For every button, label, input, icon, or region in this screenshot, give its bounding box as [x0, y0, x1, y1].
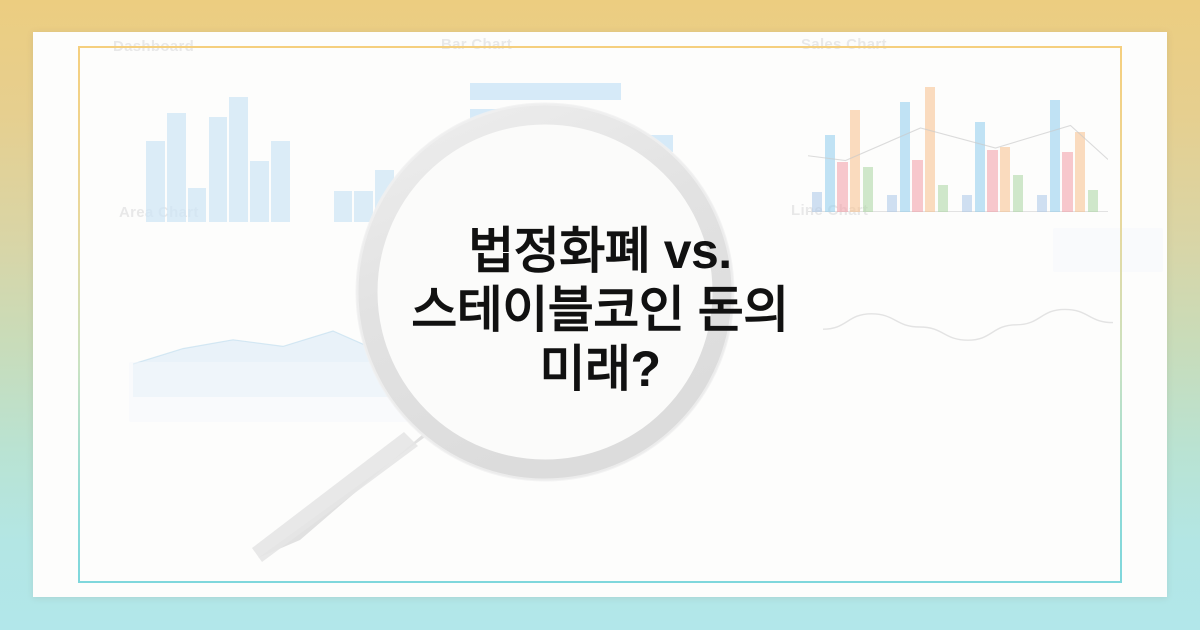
chart-bar: [167, 113, 186, 222]
page-title: 법정화폐 vs. 스테이블코인 돈의 미래?: [280, 222, 920, 399]
panel-label-bar-chart: Bar Chart: [441, 36, 512, 53]
ghost-panel-right: [1053, 228, 1163, 272]
page-title-line-3: 미래?: [280, 340, 920, 399]
page-title-line-2: 스테이블코인 돈의: [280, 281, 920, 340]
chart-bar: [470, 83, 621, 100]
page-title-line-1: 법정화폐 vs.: [280, 222, 920, 281]
chart-sales-overlay-line: [808, 87, 1108, 212]
chart-bar: [146, 141, 165, 222]
chart-bar: [229, 97, 248, 222]
chart-bar: [334, 191, 353, 222]
panel-label-dashboard: Dashboard: [113, 38, 194, 55]
chart-bar: [375, 170, 394, 222]
chart-bar: [354, 191, 373, 222]
poster-canvas: Dashboard Bar Chart Sales Chart Area Cha…: [0, 0, 1200, 630]
chart-bar: [470, 109, 543, 126]
chart-bar-horizontal: [470, 80, 760, 210]
chart-bar: [470, 161, 580, 178]
chart-bar: [188, 188, 207, 222]
chart-dashboard-columns: [145, 92, 395, 222]
chart-bar: [470, 187, 650, 204]
chart-bar: [209, 117, 228, 222]
chart-bar: [271, 141, 290, 222]
panel-label-sales-chart: Sales Chart: [801, 36, 887, 53]
chart-bar: [250, 161, 269, 222]
chart-bar: [470, 135, 673, 152]
